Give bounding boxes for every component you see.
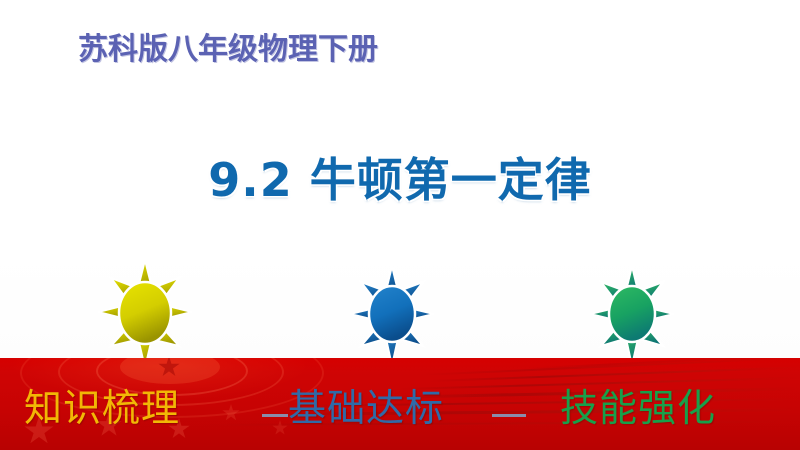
label-dash-left: [262, 414, 288, 417]
section-label-basic-standards[interactable]: 基础达标: [288, 377, 444, 432]
sun-icon-yellow: [96, 258, 194, 370]
page-title: 9.2 牛顿第一定律: [0, 144, 800, 210]
textbook-edition-label: 苏科版八年级物理下册: [78, 24, 378, 68]
star-icon: [272, 420, 288, 436]
section-label-skill-enhancement[interactable]: 技能强化: [560, 377, 716, 432]
label-dash-right: [492, 414, 526, 417]
slide-canvas: 苏科版八年级物理下册 9.2 牛顿第一定律: [0, 0, 800, 450]
sun-icon-blue: [348, 264, 436, 368]
sun-icon-green: [588, 264, 676, 368]
section-label-knowledge-review[interactable]: 知识梳理: [24, 377, 180, 432]
